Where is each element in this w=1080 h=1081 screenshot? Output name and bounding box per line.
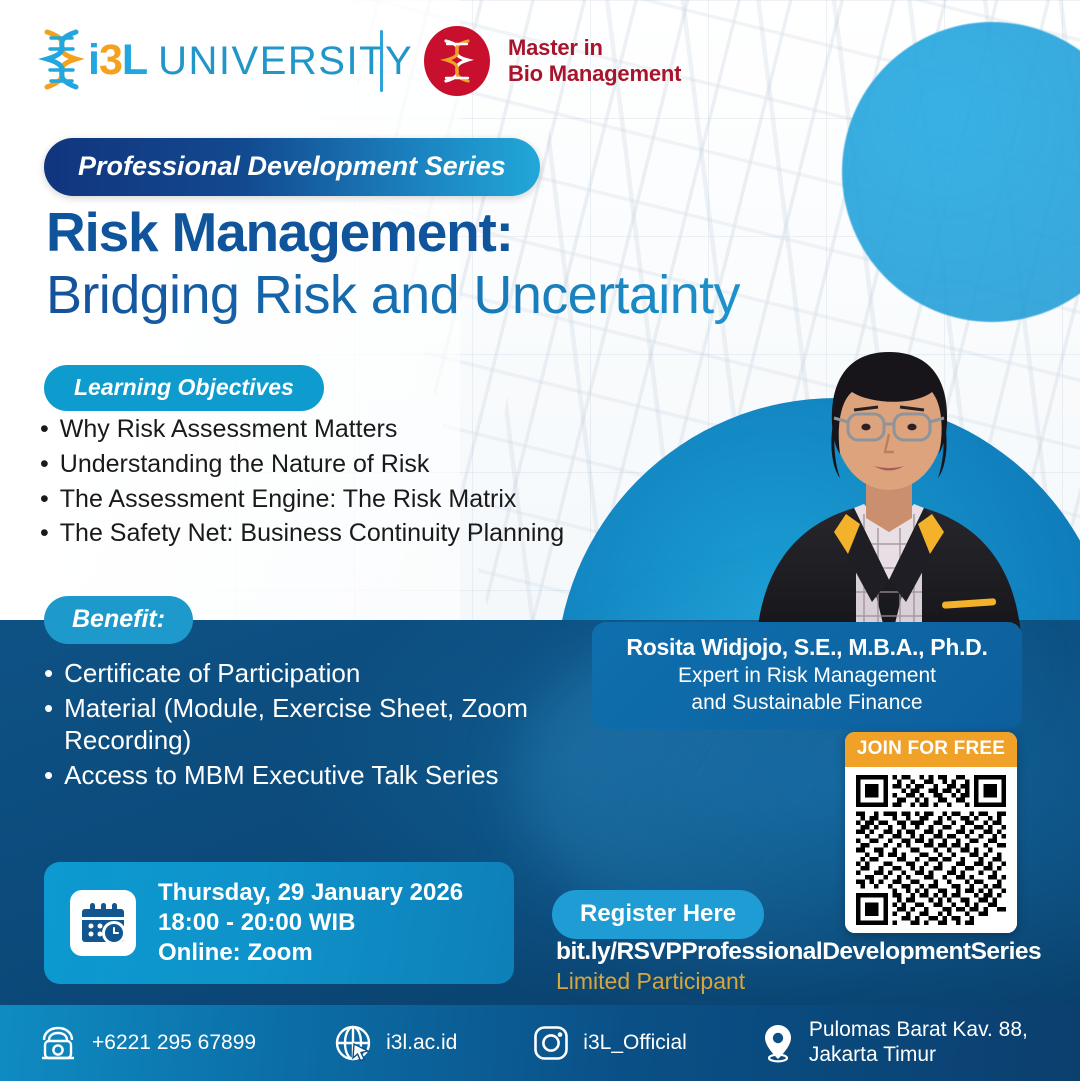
contact-website[interactable]: i3l.ac.id [334,1024,457,1062]
address-line-1: Pulomas Barat Kav. 88, [809,1018,1028,1041]
benefit-text: Material (Module, Exercise Sheet, Zoom R… [64,693,554,756]
instagram-icon [533,1025,569,1061]
page-title: Risk Management: Bridging Risk and Uncer… [46,203,740,326]
globe-cursor-icon [334,1024,372,1062]
contact-phone[interactable]: +6221 295 67899 [38,1026,256,1060]
address-text: Pulomas Barat Kav. 88, Jakarta Timur [809,1018,1028,1068]
header-divider [380,30,383,92]
registration-link[interactable]: bit.ly/RSVPProfessionalDevelopmentSeries [556,938,1041,966]
mbm-logo: Master in Bio Management [424,26,681,96]
speaker-role-line1: Expert in Risk Management [608,663,1006,688]
list-item: •Understanding the Nature of Risk [40,450,600,480]
event-time: 18:00 - 20:00 WIB [158,908,463,938]
benefit-badge: Benefit: [44,596,193,644]
website-url: i3l.ac.id [386,1031,457,1056]
location-pin-icon [761,1023,795,1063]
mbm-helix-badge-icon [424,26,490,96]
contact-address: Pulomas Barat Kav. 88, Jakarta Timur [761,1018,1028,1068]
instagram-handle: i3L_Official [583,1031,687,1056]
speaker-info-card: Rosita Widjojo, S.E., M.B.A., Ph.D. Expe… [592,622,1022,729]
qr-code-card[interactable]: JOIN FOR FREE [845,732,1017,933]
dna-helix-icon [38,28,84,92]
list-item: •Material (Module, Exercise Sheet, Zoom … [44,693,554,756]
bullet-icon: • [44,760,53,791]
bullet-icon: • [40,519,49,549]
mbm-line1: Master in [508,35,681,61]
bullet-icon: • [44,693,53,756]
register-here-button[interactable]: Register Here [552,890,764,939]
speaker-name: Rosita Widjojo, S.E., M.B.A., Ph.D. [608,634,1006,661]
learning-objectives-badge: Learning Objectives [44,365,324,411]
event-datetime-card: Thursday, 29 January 2026 18:00 - 20:00 … [44,862,514,984]
i3l-mark-three: 3 [99,36,122,84]
list-item: •Access to MBM Executive Talk Series [44,760,554,791]
speaker-photo [736,318,1042,648]
footer-contact-bar: +6221 295 67899 i3l.ac.id [0,1005,1080,1081]
mbm-line2: Bio Management [508,61,681,87]
benefits-list: •Certificate of Participation •Material … [44,658,554,796]
title-line-1: Risk Management: [46,203,740,261]
bullet-icon: • [40,450,49,480]
header: i3L UNIVERSITY Master in Bio M [0,0,1080,118]
phone-number: +6221 295 67899 [92,1031,256,1056]
title-line-2: Bridging Risk and Uncertainty [46,265,740,325]
event-poster: i3L UNIVERSITY Master in Bio M [0,0,1080,1081]
contact-instagram[interactable]: i3L_Official [533,1025,687,1061]
learning-objectives-list: •Why Risk Assessment Matters •Understand… [40,415,600,554]
objective-text: Why Risk Assessment Matters [60,415,398,445]
bullet-icon: • [40,485,49,515]
speaker-role-line2: and Sustainable Finance [608,690,1006,715]
list-item: •The Assessment Engine: The Risk Matrix [40,485,600,515]
benefit-text: Certificate of Participation [64,658,360,689]
series-badge: Professional Development Series [44,138,540,196]
limited-participant-note: Limited Participant [556,968,745,995]
list-item: •Why Risk Assessment Matters [40,415,600,445]
mbm-program-name: Master in Bio Management [508,35,681,87]
qr-code-image[interactable] [845,767,1017,933]
bullet-icon: • [44,658,53,689]
i3l-logo: i3L UNIVERSITY [38,28,413,92]
i3l-mark: i3L [88,36,147,85]
bullet-icon: • [40,415,49,445]
benefit-text: Access to MBM Executive Talk Series [64,760,498,791]
join-for-free-banner: JOIN FOR FREE [845,732,1017,767]
i3l-wordmark: i3L UNIVERSITY [88,36,413,85]
address-line-2: Jakarta Timur [809,1043,936,1066]
objective-text: The Safety Net: Business Continuity Plan… [60,519,564,549]
list-item: •Certificate of Participation [44,658,554,689]
event-date: Thursday, 29 January 2026 [158,878,463,908]
objective-text: The Assessment Engine: The Risk Matrix [60,485,517,515]
telephone-icon [38,1026,78,1060]
objective-text: Understanding the Nature of Risk [60,450,430,480]
university-word: UNIVERSITY [158,39,413,84]
list-item: •The Safety Net: Business Continuity Pla… [40,519,600,549]
calendar-clock-icon [70,890,136,956]
event-platform: Online: Zoom [158,938,463,968]
event-datetime-text: Thursday, 29 January 2026 18:00 - 20:00 … [158,878,463,969]
